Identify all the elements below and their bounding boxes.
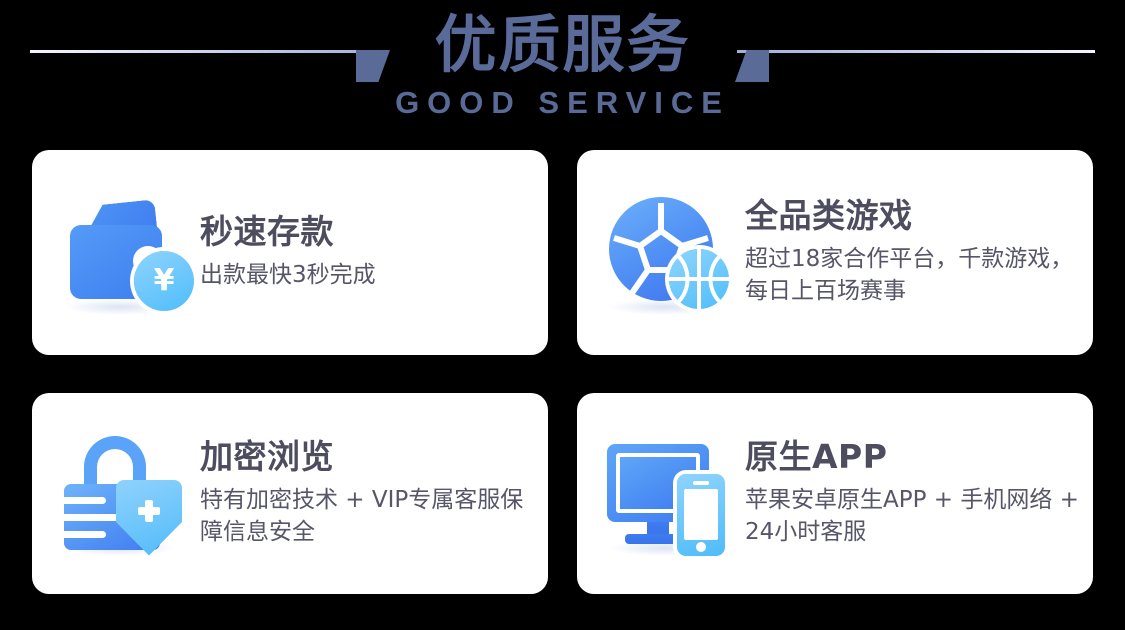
monitor-phone-icon — [603, 430, 731, 558]
page-title: 优质服务 — [434, 8, 690, 81]
feature-card-encryption[interactable]: 加密浏览 特有加密技术 + VIP专属客服保障信息安全 — [32, 393, 548, 594]
basketball-lines-icon — [669, 249, 729, 309]
feature-card-deposit[interactable]: ¥ 秒速存款 出款最快3秒完成 — [32, 150, 548, 355]
banner-header: 优质服务 GOOD SERVICE — [0, 0, 1125, 145]
basketball-icon — [669, 249, 729, 309]
phone-speaker-icon — [693, 481, 709, 485]
lock-shield-icon — [58, 430, 186, 558]
card-description: 苹果安卓原生APP + 手机网络 + 24小时客服 — [745, 484, 1089, 548]
card-title: 全品类游戏 — [745, 197, 1089, 236]
yen-coin-icon: ¥ — [134, 251, 194, 311]
card-text-group: 全品类游戏 超过18家合作平台，千款游戏，每日上百场赛事 — [745, 197, 1089, 307]
plus-icon — [138, 500, 160, 522]
card-title: 秒速存款 — [200, 213, 376, 252]
soccer-basketball-icon — [603, 189, 731, 317]
card-description: 特有加密技术 + VIP专属客服保障信息安全 — [200, 484, 544, 548]
card-title: 加密浏览 — [200, 438, 544, 477]
feature-card-grid: ¥ 秒速存款 出款最快3秒完成 — [32, 150, 1093, 594]
phone-icon — [677, 474, 725, 556]
header-text-group: 优质服务 GOOD SERVICE — [0, 8, 1125, 118]
promo-banner: 优质服务 GOOD SERVICE ¥ 秒速存款 出款最快3秒完成 — [0, 0, 1125, 630]
card-text-group: 加密浏览 特有加密技术 + VIP专属客服保障信息安全 — [200, 438, 544, 548]
feature-card-games[interactable]: 全品类游戏 超过18家合作平台，千款游戏，每日上百场赛事 — [577, 150, 1093, 355]
card-title: 原生APP — [745, 438, 1089, 477]
feature-card-native-app[interactable]: 原生APP 苹果安卓原生APP + 手机网络 + 24小时客服 — [577, 393, 1093, 594]
card-text-group: 秒速存款 出款最快3秒完成 — [200, 213, 376, 291]
lock-slot-icon — [64, 514, 120, 521]
page-subtitle: GOOD SERVICE — [395, 87, 730, 118]
wallet-yen-icon: ¥ — [58, 189, 186, 317]
phone-screen-icon — [684, 489, 718, 540]
lock-slot-icon — [64, 531, 106, 538]
card-description: 出款最快3秒完成 — [200, 259, 376, 291]
lock-slot-icon — [64, 497, 106, 504]
card-text-group: 原生APP 苹果安卓原生APP + 手机网络 + 24小时客服 — [745, 438, 1089, 548]
phone-home-button-icon — [696, 542, 706, 552]
yen-symbol: ¥ — [154, 266, 175, 296]
card-description: 超过18家合作平台，千款游戏，每日上百场赛事 — [745, 243, 1089, 307]
